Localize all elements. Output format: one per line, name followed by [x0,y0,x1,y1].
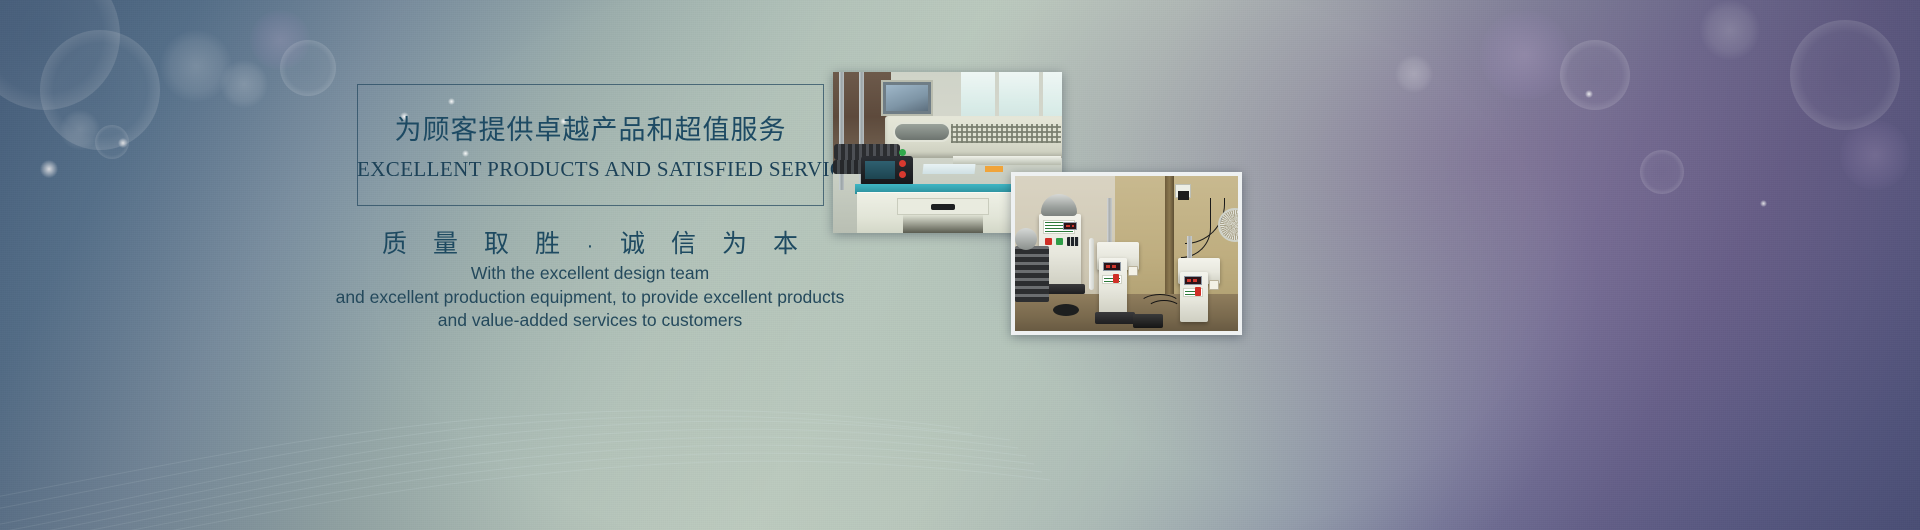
photo1-machine-window [893,122,951,142]
slogan-char-7: 为 [709,224,760,260]
photo2-machine-left-red-button [1045,238,1052,245]
slogan-char-1: 质 [369,224,420,260]
slogan-char-6: 信 [658,224,709,260]
photo2-machine-center-tube [1089,238,1094,290]
description-line-1: With the excellent design team [290,262,890,286]
slogan-char-4: 胜 [522,224,573,260]
headline-chinese: 为顾客提供卓越产品和超值服务 [357,108,824,147]
photo2-machine-center-red-button [1113,274,1119,283]
photo2-machine-center-column [1107,198,1112,244]
photo2-machine-center-label [1102,275,1122,284]
photo2-machine-right-warning-sticker [1209,280,1219,290]
description-paragraph: With the excellent design team and excel… [290,262,890,333]
description-line-2: and excellent production equipment, to p… [290,286,890,310]
photo2-machine-right-display [1184,276,1202,285]
photo-2-content [1015,176,1238,331]
banner-content: 为顾客提供卓越产品和超值服务 EXCELLENT PRODUCTS AND SA… [0,0,1920,530]
hero-banner: 为顾客提供卓越产品和超值服务 EXCELLENT PRODUCTS AND SA… [0,0,1920,530]
slogan-char-2: 量 [420,224,471,260]
photo1-orange-label [985,166,1003,172]
description-line-3: and value-added services to customers [290,309,890,333]
slogan-separator-dot: · [573,235,607,258]
photo2-machine-center-base [1095,312,1135,324]
photo2-machine-center-warning-sticker [1128,266,1138,276]
photo1-machine-vents [951,124,1061,143]
photo2-wooden-beam [1165,176,1174,296]
photo1-red-button-1 [899,160,906,167]
photo2-machine-center-display [1103,262,1121,271]
photo2-machine-left-keypad [1067,237,1079,246]
slogan-char-3: 取 [471,224,522,260]
photo2-machine-left-display [1063,222,1077,230]
slogan-char-8: 本 [760,224,811,260]
photo1-glass-plate [922,164,975,174]
photo2-machine-left-green-button [1056,238,1063,245]
photo1-monitor [881,80,933,116]
photo1-green-button [899,149,906,156]
photo1-red-button-2 [899,171,906,178]
slogan-chinese: 质量取胜·诚信为本 [330,224,850,260]
photo1-drawer-handle [931,204,955,210]
slogan-char-5: 诚 [607,224,658,260]
subheadline-english: EXCELLENT PRODUCTS AND SATISFIED SERVICE [357,157,824,182]
photo2-machine-right-red-button [1195,287,1201,296]
crimping-machines-photo [1011,172,1242,335]
photo1-cabinet-opening [903,215,983,233]
photo2-floor-cable-2 [1147,300,1181,318]
photo2-reel [1015,228,1037,250]
photo2-floor-disc [1053,304,1079,316]
photo2-parts-rack [1015,246,1049,302]
